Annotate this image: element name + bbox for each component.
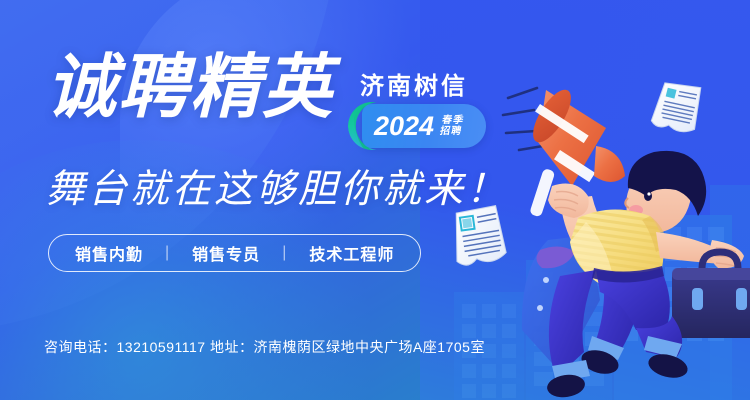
badge-season: 春 季 招 聘 — [439, 116, 464, 137]
contact-info: 咨询电话：13210591117 地址：济南槐荫区绿地中央广场A座1705室 — [44, 337, 485, 357]
briefcase-icon — [672, 252, 750, 338]
badge-season-char-1: 春 — [441, 116, 453, 127]
job-position-3: 技术工程师 — [309, 241, 394, 265]
badge-season-char-2: 季 — [452, 116, 464, 127]
character-front-shoe — [646, 350, 690, 381]
flying-document-top — [650, 78, 704, 135]
flying-document-center — [450, 205, 507, 266]
badge-season-char-3: 招 — [439, 126, 451, 137]
job-position-2: 销售专员 — [192, 241, 260, 265]
company-name: 济南树信 — [360, 66, 468, 101]
badge-season-char-4: 聘 — [450, 126, 462, 137]
contact-full-text: 咨询电话：13210591117 地址：济南槐荫区绿地中央广场A座1705室 — [44, 339, 485, 355]
job-separator-1: | — [165, 244, 170, 262]
job-positions-list: 销售内勤 | 销售专员 | 技术工程师 — [48, 234, 421, 272]
page-title: 诚聘精英 — [46, 52, 334, 122]
character-eye — [644, 191, 652, 201]
recruitment-banner: 诚聘精英 济南树信 2024 春 季 招 聘 舞台就在这够胆你就来！ 销售内勤 … — [0, 0, 750, 400]
subtitle: 舞台就在这够胆你就来！ — [46, 158, 508, 214]
badge-year: 2024 — [374, 111, 434, 142]
badge-pill: 2024 春 季 招 聘 — [362, 104, 486, 148]
recruitment-badge: 2024 春 季 招 聘 — [348, 104, 488, 148]
job-separator-2: | — [282, 244, 287, 262]
job-position-1: 销售内勤 — [75, 241, 143, 265]
